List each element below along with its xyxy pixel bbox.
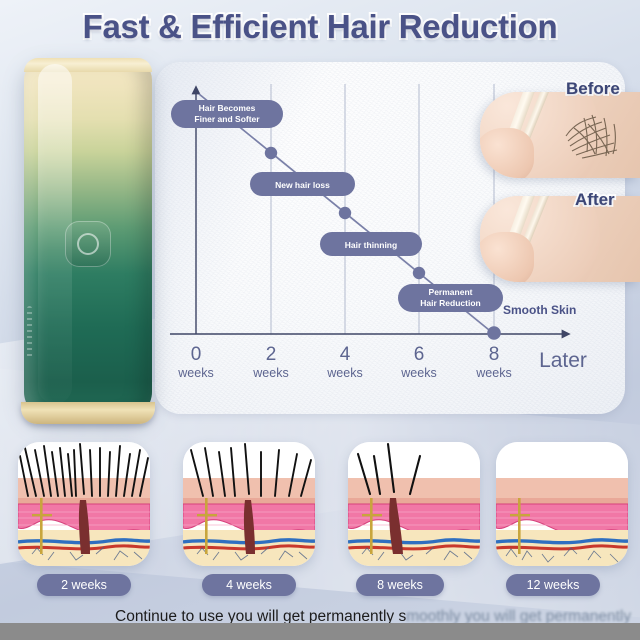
annotation-label-line1: Hair Becomes	[199, 103, 256, 113]
power-button-icon	[65, 221, 111, 267]
stage-card-2-weeks	[18, 442, 150, 566]
annotation-label-line2: Finer and Softer	[194, 114, 260, 124]
annotation-new-hair-loss: New hair loss	[250, 172, 355, 196]
annotation-label-line1: New hair loss	[275, 180, 330, 190]
after-photo-card	[480, 196, 640, 282]
tick-unit: weeks	[400, 366, 436, 380]
tick-number: 0	[191, 344, 202, 365]
page-title: Fast & Efficient Hair Reduction	[0, 8, 640, 46]
annotation-label-line1: Hair thinning	[345, 240, 397, 250]
stage-cards-row: 2 weeks 4 week	[0, 436, 640, 596]
tick-number: 6	[414, 344, 425, 365]
before-photo-card	[480, 92, 640, 178]
data-point-4-weeks	[339, 207, 351, 219]
skin-cross-section-diagram	[183, 442, 315, 566]
hand-shape	[480, 232, 534, 282]
screenshot-gray-bar	[0, 623, 640, 640]
before-label: Before	[566, 79, 620, 99]
tick-unit: weeks	[177, 366, 213, 380]
device-base-cap	[21, 402, 155, 424]
skin-cross-section-diagram	[348, 442, 480, 566]
footer-strip: Continue to use you will get permanently…	[0, 606, 640, 640]
skin-cross-section-diagram	[496, 442, 628, 566]
tick-number: 4	[340, 344, 351, 365]
data-point-6-weeks	[413, 267, 425, 279]
after-label: After	[575, 190, 615, 210]
skin-cross-section-diagram	[18, 442, 150, 566]
underarm-hair-icon	[562, 110, 624, 162]
hand-shape	[480, 128, 534, 178]
tick-unit: weeks	[252, 366, 288, 380]
annotation-label-line1: Permanent	[429, 287, 473, 297]
stage-label-pill: 2 weeks	[37, 574, 131, 596]
product-device-image	[24, 58, 152, 418]
annotation-permanent-hair-reduction: Permanent Hair Reduction	[398, 284, 503, 312]
annotation-hair-becomes-finer: Hair Becomes Finer and Softer	[171, 100, 283, 128]
annotation-label-line2: Hair Reduction	[420, 298, 480, 308]
tick-number: 2	[266, 344, 277, 365]
tick-unit: weeks	[326, 366, 362, 380]
stage-label-pill: 8 weeks	[356, 574, 444, 596]
data-point-8-weeks	[487, 326, 501, 340]
later-axis-label: Later	[539, 349, 587, 372]
smooth-skin-label: Smooth Skin	[503, 303, 576, 317]
tick-number: 8	[489, 344, 500, 365]
stage-label-pill: 12 weeks	[506, 574, 600, 596]
stage-card-8-weeks	[348, 442, 480, 566]
device-vents	[27, 306, 32, 358]
stage-card-12-weeks	[496, 442, 628, 566]
data-point-2-weeks	[265, 147, 277, 159]
stage-card-4-weeks	[183, 442, 315, 566]
annotation-hair-thinning: Hair thinning	[320, 232, 422, 256]
chart-x-tick-labels: 0 weeks 2 weeks 4 weeks 6 weeks 8 weeks	[177, 344, 511, 380]
tick-unit: weeks	[475, 366, 511, 380]
stage-label-pill: 4 weeks	[202, 574, 296, 596]
